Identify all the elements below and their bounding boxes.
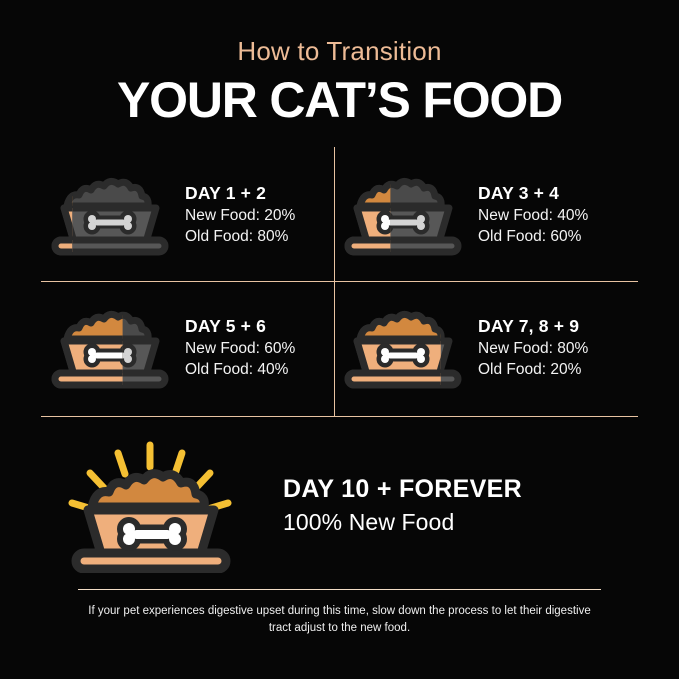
food-bowl-icon xyxy=(47,170,173,262)
step-card-day-5-6: DAY 5 + 6 New Food: 60% Old Food: 40% xyxy=(41,281,334,416)
step-new-food: New Food: 20% xyxy=(185,206,295,227)
infographic-root: How to Transition YOUR CAT’S FOOD xyxy=(0,0,679,679)
food-bowl-icon-60 xyxy=(45,303,175,395)
step-title: DAY 5 + 6 xyxy=(185,316,295,337)
bowl-base xyxy=(76,553,226,569)
step-title: DAY 3 + 4 xyxy=(478,183,588,204)
step-new-food: New Food: 60% xyxy=(185,339,295,360)
step-card-day-1-2: DAY 1 + 2 New Food: 20% Old Food: 80% xyxy=(41,150,334,281)
hero-title: DAY 10 + FOREVER xyxy=(283,474,522,505)
step-old-food: Old Food: 20% xyxy=(478,360,588,381)
step-new-food: New Food: 40% xyxy=(478,206,588,227)
food-bowl-sunburst-icon xyxy=(41,437,241,573)
food-bowl-icon-40 xyxy=(338,170,468,262)
food-bowl-sunburst-icon xyxy=(62,437,238,573)
food-bowl-icon xyxy=(47,303,173,395)
kibble-mound xyxy=(92,474,204,507)
footer-disclaimer: If your pet experiences digestive upset … xyxy=(78,603,601,638)
food-bowl-icon-20 xyxy=(45,170,175,262)
step-old-food: Old Food: 60% xyxy=(478,227,588,248)
hero-final-step: DAY 10 + FOREVER 100% New Food xyxy=(41,424,638,586)
hero-subtitle: 100% New Food xyxy=(283,509,522,536)
transition-steps-grid: DAY 1 + 2 New Food: 20% Old Food: 80% xyxy=(41,150,638,416)
step-title: DAY 1 + 2 xyxy=(185,183,295,204)
bone-emblem xyxy=(121,521,183,547)
eyebrow-title: How to Transition xyxy=(0,36,679,67)
step-old-food: Old Food: 40% xyxy=(185,360,295,381)
step-new-food: New Food: 80% xyxy=(478,339,588,360)
step-card-day-3-4: DAY 3 + 4 New Food: 40% Old Food: 60% xyxy=(334,150,638,281)
footer-divider xyxy=(78,589,601,590)
below-grid-divider xyxy=(41,416,638,417)
step-old-food: Old Food: 80% xyxy=(185,227,295,248)
food-bowl-icon xyxy=(340,170,466,262)
step-title: DAY 7, 8 + 9 xyxy=(478,316,588,337)
page-title: YOUR CAT’S FOOD xyxy=(0,71,679,129)
food-bowl-icon-80 xyxy=(338,303,468,395)
step-card-day-7-8-9: DAY 7, 8 + 9 New Food: 80% Old Food: 20% xyxy=(334,281,638,416)
food-bowl-icon xyxy=(340,303,466,395)
